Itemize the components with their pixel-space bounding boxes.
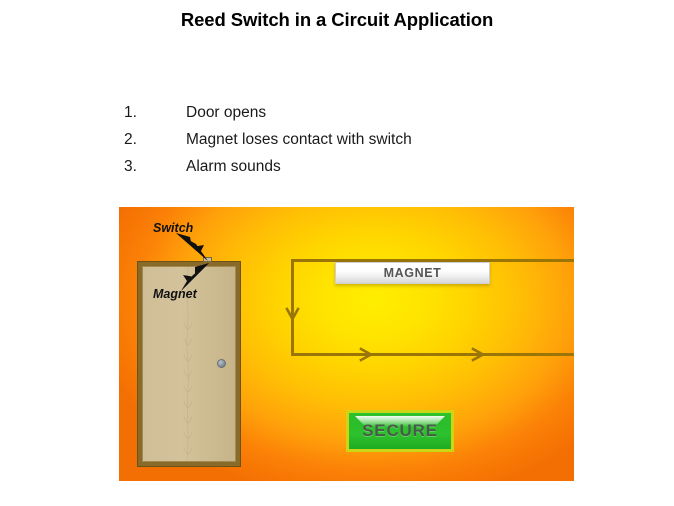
status-badge-label: SECURE (362, 421, 438, 441)
list-item-number: 2. (124, 131, 186, 149)
magnet-component-label: MAGNET (384, 266, 442, 280)
list-item-label: Door opens (186, 104, 564, 122)
list-item-number: 3. (124, 158, 186, 176)
door-knob-icon (217, 359, 226, 368)
steps-list: 1. Door opens 2. Magnet loses contact wi… (124, 104, 564, 185)
list-item: 1. Door opens (124, 104, 564, 131)
circuit-wire-bottom (291, 353, 574, 356)
status-badge-secure[interactable]: SECURE (346, 410, 454, 452)
list-item: 3. Alarm sounds (124, 158, 564, 185)
circuit-diagram: Switch Magnet MAGNET CONTROL CIRCUIT SEC… (119, 207, 574, 481)
magnet-annotation-label: Magnet (153, 287, 197, 301)
magnet-component-box: MAGNET (335, 262, 490, 284)
circuit-wire-left (291, 259, 294, 356)
list-item-number: 1. (124, 104, 186, 122)
list-item-label: Magnet loses contact with switch (186, 131, 564, 149)
list-item-label: Alarm sounds (186, 158, 564, 176)
list-item: 2. Magnet loses contact with switch (124, 131, 564, 158)
reed-switch-element (203, 257, 212, 262)
page-title: Reed Switch in a Circuit Application (0, 9, 674, 31)
switch-annotation-label: Switch (153, 221, 193, 235)
